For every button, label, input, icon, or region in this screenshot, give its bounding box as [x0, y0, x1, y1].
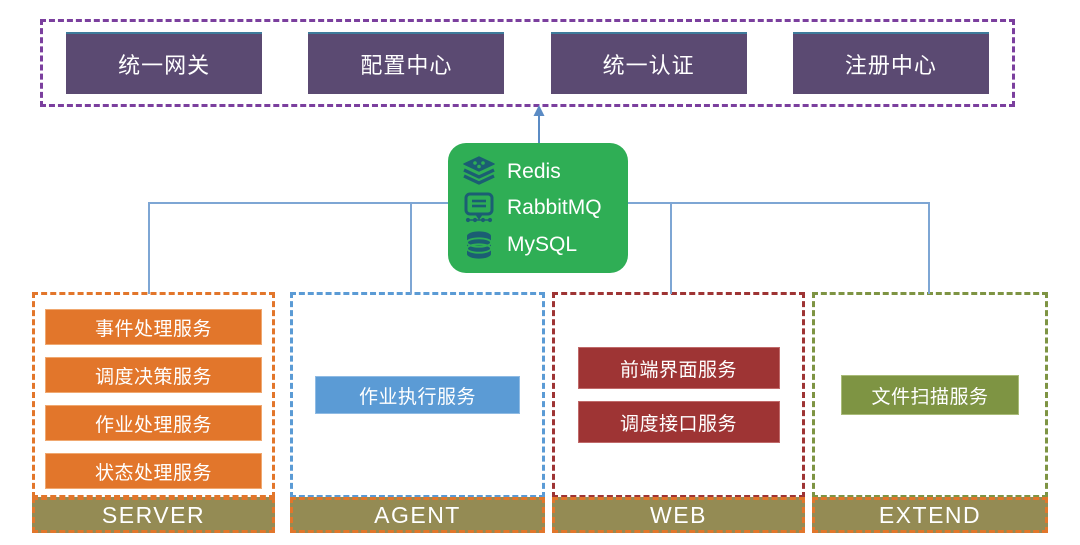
middleware-item-mysql[interactable]: MySQL: [462, 227, 628, 263]
platform-box-label: 统一认证: [603, 48, 695, 80]
message-icon: [462, 192, 496, 224]
column-footer-extend: EXTEND: [812, 497, 1048, 533]
middleware-item-redis[interactable]: Redis: [462, 153, 628, 189]
layers-icon: [462, 155, 496, 187]
platform-box-unified-gateway[interactable]: 统一网关: [66, 32, 262, 94]
platform-box-label: 注册中心: [845, 48, 937, 80]
service-label: 文件扫描服务: [871, 382, 988, 409]
column-footer-label: AGENT: [374, 502, 461, 529]
service-box[interactable]: 调度接口服务: [578, 401, 780, 443]
arrow-middleware-to-platform: [529, 104, 549, 146]
column-extend: 文件扫描服务: [812, 292, 1048, 498]
service-label: 状态处理服务: [95, 458, 212, 485]
column-footer-label: WEB: [650, 502, 707, 529]
connector-drop-extend: [928, 202, 930, 294]
platform-box-config-center[interactable]: 配置中心: [308, 32, 504, 94]
service-label: 前端界面服务: [620, 355, 737, 382]
connector-drop-agent: [410, 202, 412, 294]
column-web: 前端界面服务 调度接口服务: [552, 292, 805, 498]
service-box[interactable]: 调度决策服务: [45, 357, 262, 393]
middleware-item-label: RabbitMQ: [507, 197, 602, 218]
column-footer-server: SERVER: [32, 497, 275, 533]
service-box[interactable]: 状态处理服务: [45, 453, 262, 489]
service-box[interactable]: 前端界面服务: [578, 347, 780, 389]
middleware-item-label: MySQL: [507, 234, 577, 255]
column-server: 事件处理服务 调度决策服务 作业处理服务 状态处理服务: [32, 292, 275, 498]
connector-bus-left: [148, 202, 450, 204]
column-footer-agent: AGENT: [290, 497, 545, 533]
architecture-diagram: 统一网关 配置中心 统一认证 注册中心: [0, 0, 1080, 545]
service-label: 事件处理服务: [95, 314, 212, 341]
platform-box-registry-center[interactable]: 注册中心: [793, 32, 989, 94]
middleware-box: Redis RabbitMQ MySQL: [448, 143, 628, 273]
column-agent: 作业执行服务: [290, 292, 545, 498]
service-box[interactable]: 作业执行服务: [315, 376, 520, 414]
service-box[interactable]: 作业处理服务: [45, 405, 262, 441]
service-label: 作业处理服务: [95, 410, 212, 437]
database-icon: [462, 229, 496, 261]
service-label: 作业执行服务: [359, 382, 476, 409]
column-footer-label: EXTEND: [879, 502, 981, 529]
column-footer-web: WEB: [552, 497, 805, 533]
platform-group: 统一网关 配置中心 统一认证 注册中心: [40, 19, 1015, 107]
column-footer-label: SERVER: [102, 502, 205, 529]
platform-box-unified-auth[interactable]: 统一认证: [551, 32, 747, 94]
middleware-item-label: Redis: [507, 161, 561, 182]
connector-drop-web: [670, 202, 672, 294]
connector-drop-server: [148, 202, 150, 294]
middleware-item-rabbitmq[interactable]: RabbitMQ: [462, 190, 628, 226]
service-box[interactable]: 事件处理服务: [45, 309, 262, 345]
service-label: 调度接口服务: [620, 409, 737, 436]
platform-box-label: 统一网关: [118, 48, 210, 80]
service-label: 调度决策服务: [95, 362, 212, 389]
service-box[interactable]: 文件扫描服务: [841, 375, 1019, 415]
platform-box-label: 配置中心: [360, 48, 452, 80]
